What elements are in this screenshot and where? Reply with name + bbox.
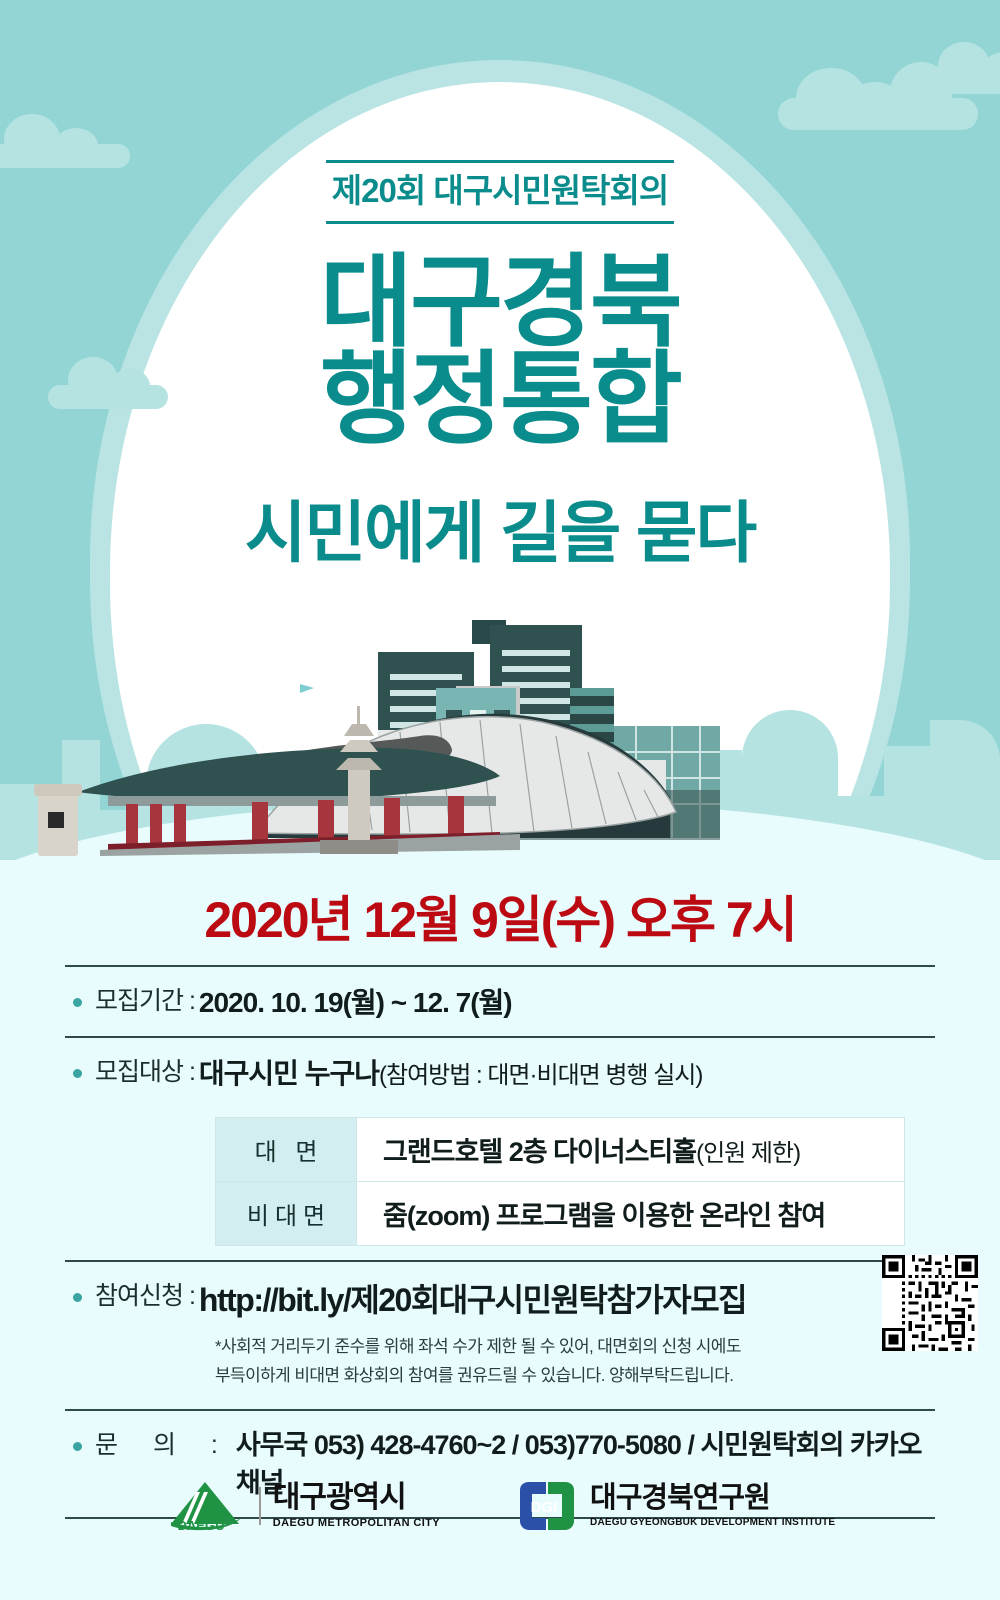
info-section: 모집기간 : 2020. 10. 19(월) ~ 12. 7(월) 모집대상 :… <box>65 965 935 1519</box>
info-row-target: 모집대상 : 대구시민 누구나(참여방법 : 대면·비대면 병행 실시) <box>65 1038 935 1107</box>
daegu-city-en: DAEGU METROPOLITAN CITY <box>273 1518 440 1529</box>
poster: 제20회 대구시민원탁회의 대구경북 행정통합 시민에게 길을 묻다 2020년… <box>0 0 1000 1600</box>
table-row: 비대면 줌(zoom) 프로그램을 이용한 온라인 참여 <box>216 1182 905 1246</box>
label-apply: 참여신청 : <box>95 1278 195 1314</box>
qr-code-icon <box>882 1255 978 1351</box>
venue-detail-offline-bold: 그랜드호텔 2층 다이너스티홀 <box>383 1137 696 1167</box>
label-period: 모집기간 : <box>95 983 195 1019</box>
kicker-wrapper: 제20회 대구시민원탁회의 <box>0 160 1000 224</box>
venue-detail-offline-thin: (인원 제한) <box>696 1140 800 1167</box>
dgi-en: DAEGU GYEONGBUK DEVELOPMENT INSTITUTE <box>590 1518 835 1528</box>
daegu-mountain-icon: DAEGU <box>165 1478 247 1534</box>
apply-url[interactable]: http://bit.ly/제20회대구시민원탁참가자모집 <box>199 1278 746 1323</box>
dgi-wordmark: DGI <box>531 1499 558 1516</box>
value-target-thin: (참여방법 : 대면·비대면 병행 실시) <box>379 1062 702 1089</box>
label-contact: 문 의 : <box>95 1427 232 1463</box>
event-date: 2020년 12월 9일(수) 오후 7시 <box>0 880 1000 952</box>
venue-detail-online-bold: 줌(zoom) 프로그램을 이용한 온라인 참여 <box>383 1201 825 1231</box>
logo-daegu-city: DAEGU 대구광역시 DAEGU METROPOLITAN CITY <box>165 1478 440 1534</box>
note-line-1: *사회적 거리두기 준수를 위해 좌석 수가 제한 될 수 있어, 대면회의 신… <box>215 1333 935 1362</box>
table-row: 대 면 그랜드호텔 2층 다이너스티홀(인원 제한) <box>216 1118 905 1182</box>
venue-detail-online: 줌(zoom) 프로그램을 이용한 온라인 참여 <box>357 1182 905 1246</box>
daegu-city-ko: 대구광역시 <box>273 1483 440 1513</box>
city-illustration <box>0 600 1000 860</box>
venue-detail-offline: 그랜드호텔 2층 다이너스티홀(인원 제한) <box>357 1118 905 1182</box>
daegu-wordmark: DAEGU <box>177 1518 224 1533</box>
info-row-period: 모집기간 : 2020. 10. 19(월) ~ 12. 7(월) <box>65 967 935 1036</box>
value-target-bold: 대구시민 누구나 <box>199 1058 379 1089</box>
note-line-2: 부득이하게 비대면 화상회의 참여를 권유드릴 수 있습니다. 양해부탁드립니다… <box>215 1362 935 1391</box>
venue-table: 대 면 그랜드호텔 2층 다이너스티홀(인원 제한) 비대면 줌(zoom) 프… <box>215 1117 905 1246</box>
distancing-note: *사회적 거리두기 준수를 위해 좌석 수가 제한 될 수 있어, 대면회의 신… <box>215 1333 935 1391</box>
bullet-icon <box>73 1069 82 1078</box>
dgi-ko: 대구경북연구원 <box>590 1484 835 1513</box>
value-period: 2020. 10. 19(월) ~ 12. 7(월) <box>199 983 512 1022</box>
bullet-icon <box>73 998 82 1007</box>
qr-code[interactable] <box>882 1255 978 1351</box>
dgi-texts: 대구경북연구원 DAEGU GYEONGBUK DEVELOPMENT INST… <box>590 1484 835 1528</box>
title-line-2: 행정통합 <box>0 352 1000 449</box>
bullet-icon <box>73 1442 82 1451</box>
value-target: 대구시민 누구나(참여방법 : 대면·비대면 병행 실시) <box>199 1054 702 1093</box>
title-block: 대구경북 행정통합 시민에게 길을 묻다 <box>0 255 1000 576</box>
bullet-icon <box>73 1293 82 1302</box>
logo-dgi: DGI 대구경북연구원 DAEGU GYEONGBUK DEVELOPMENT … <box>516 1480 835 1532</box>
logo-divider <box>259 1487 261 1525</box>
footer-logos: DAEGU 대구광역시 DAEGU METROPOLITAN CITY DGI … <box>0 1478 1000 1534</box>
title-line-1: 대구경북 <box>0 255 1000 352</box>
event-kicker: 제20회 대구시민원탁회의 <box>326 160 674 224</box>
daegu-city-texts: 대구광역시 DAEGU METROPOLITAN CITY <box>273 1483 440 1529</box>
info-row-apply: 참여신청 : http://bit.ly/제20회대구시민원탁참가자모집 <box>65 1262 935 1325</box>
cloud-right-small <box>928 38 1000 94</box>
poster-subtitle: 시민에게 길을 묻다 <box>0 479 1000 576</box>
venue-mode-online: 비대면 <box>216 1182 357 1246</box>
venue-mode-offline: 대 면 <box>216 1118 357 1182</box>
label-target: 모집대상 : <box>95 1054 195 1090</box>
dgi-mark-icon: DGI <box>516 1480 578 1532</box>
